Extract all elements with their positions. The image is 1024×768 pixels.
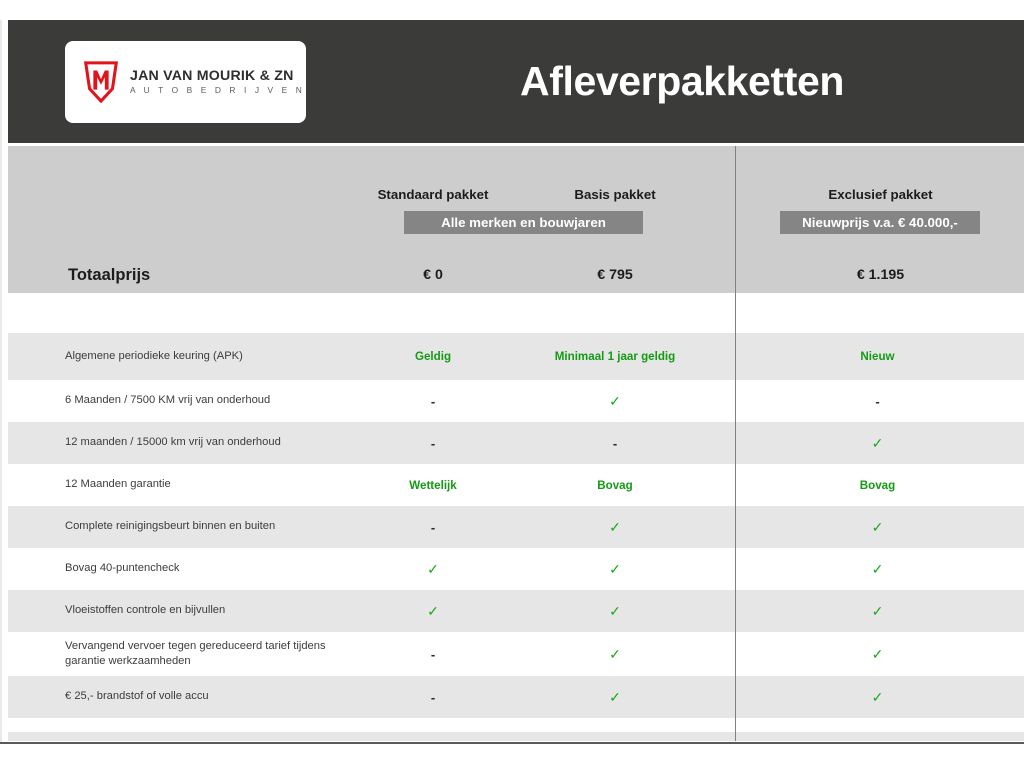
table-row: 12 Maanden garantieWettelijkBovagBovag	[8, 464, 1024, 506]
check-icon: ✓	[427, 561, 439, 578]
check-icon: ✓	[609, 603, 621, 620]
check-icon: ✓	[872, 519, 884, 536]
dash-icon: -	[431, 690, 435, 705]
cell-basis: Bovag	[527, 464, 703, 506]
cell-standaard: -	[345, 380, 521, 422]
feature-label: 6 Maanden / 7500 KM vrij van onderhoud	[65, 380, 355, 422]
cell-basis: -	[527, 422, 703, 464]
cell-exclusief: ✓	[735, 676, 1020, 718]
cell-text: Minimaal 1 jaar geldig	[555, 350, 675, 363]
cell-basis: ✓	[527, 676, 703, 718]
cell-basis: Minimaal 1 jaar geldig	[527, 333, 703, 380]
cell-standaard: Wettelijk	[345, 464, 521, 506]
column-header-exclusief: Exclusief pakket	[738, 187, 1023, 202]
cell-text: Bovag	[860, 479, 895, 492]
cell-standaard: ✓	[345, 590, 521, 632]
table-row: Vervangend vervoer tegen gereduceerd tar…	[8, 632, 1024, 676]
column-header-basis: Basis pakket	[527, 187, 703, 202]
check-icon: ✓	[872, 646, 884, 663]
cell-exclusief: -	[735, 380, 1020, 422]
cell-standaard: -	[345, 676, 521, 718]
dash-icon: -	[613, 436, 617, 451]
total-price-label: Totaalprijs	[68, 258, 150, 293]
cell-standaard: -	[345, 506, 521, 548]
cell-text: Wettelijk	[409, 479, 456, 492]
comparison-sheet: JAN VAN MOURIK & ZN A U T O B E D R I J …	[0, 20, 1024, 743]
feature-label: Vervangend vervoer tegen gereduceerd tar…	[65, 632, 355, 676]
table-body: Algemene periodieke keuring (APK)GeldigM…	[8, 293, 1024, 765]
cell-basis: ✓	[527, 632, 703, 676]
bottom-rule	[0, 742, 1024, 744]
cell-exclusief: ✓	[735, 422, 1020, 464]
shield-m-icon	[82, 61, 120, 103]
check-icon: ✓	[872, 689, 884, 706]
spacer-row-top	[8, 293, 1024, 333]
total-price-row: Totaalprijs € 0 € 795 € 1.195	[8, 258, 1024, 293]
feature-label: 12 Maanden garantie	[65, 464, 355, 506]
company-logo: JAN VAN MOURIK & ZN A U T O B E D R I J …	[65, 41, 306, 123]
feature-label: Bovag 40-puntencheck	[65, 548, 355, 590]
feature-label: Vloeistoffen controle en bijvullen	[65, 590, 355, 632]
cell-basis: ✓	[527, 380, 703, 422]
cell-basis: ✓	[527, 548, 703, 590]
cell-exclusief: ✓	[735, 548, 1020, 590]
cell-exclusief: ✓	[735, 590, 1020, 632]
feature-label: 12 maanden / 15000 km vrij van onderhoud	[65, 422, 355, 464]
badge-alle-merken: Alle merken en bouwjaren	[404, 211, 643, 234]
header-band: JAN VAN MOURIK & ZN A U T O B E D R I J …	[8, 20, 1024, 143]
table-row: € 25,- brandstof of volle accu-✓✓	[8, 676, 1024, 718]
cell-exclusief: Bovag	[735, 464, 1020, 506]
check-icon: ✓	[609, 393, 621, 410]
dash-icon: -	[875, 394, 879, 409]
cell-text: Nieuw	[860, 350, 894, 363]
footer-strip	[8, 732, 1024, 741]
table-row: 6 Maanden / 7500 KM vrij van onderhoud-✓…	[8, 380, 1024, 422]
dash-icon: -	[431, 436, 435, 451]
page-title: Afleverpakketten	[338, 20, 1024, 143]
total-price-exclusief: € 1.195	[738, 258, 1023, 293]
cell-standaard: -	[345, 422, 521, 464]
table-row: Bovag 40-puntencheck✓✓✓	[8, 548, 1024, 590]
cell-exclusief: ✓	[735, 506, 1020, 548]
cell-standaard: ✓	[345, 548, 521, 590]
badge-nieuwprijs: Nieuwprijs v.a. € 40.000,-	[780, 211, 980, 234]
cell-basis: ✓	[527, 590, 703, 632]
table-row: 12 maanden / 15000 km vrij van onderhoud…	[8, 422, 1024, 464]
table-header: Standaard pakket Basis pakket Exclusief …	[8, 146, 1024, 293]
column-header-standaard: Standaard pakket	[345, 187, 521, 202]
check-icon: ✓	[872, 435, 884, 452]
dash-icon: -	[431, 647, 435, 662]
dash-icon: -	[431, 394, 435, 409]
feature-label: Algemene periodieke keuring (APK)	[65, 333, 355, 380]
total-price-basis: € 795	[527, 258, 703, 293]
check-icon: ✓	[609, 561, 621, 578]
logo-company-name: JAN VAN MOURIK & ZN	[130, 68, 305, 84]
check-icon: ✓	[872, 603, 884, 620]
table-row: Vloeistoffen controle en bijvullen✓✓✓	[8, 590, 1024, 632]
check-icon: ✓	[609, 519, 621, 536]
check-icon: ✓	[427, 603, 439, 620]
cell-text: Bovag	[597, 479, 632, 492]
column-divider	[735, 146, 736, 741]
cell-exclusief: Nieuw	[735, 333, 1020, 380]
check-icon: ✓	[609, 646, 621, 663]
dash-icon: -	[431, 520, 435, 535]
cell-basis: ✓	[527, 506, 703, 548]
cell-standaard: Geldig	[345, 333, 521, 380]
cell-standaard: -	[345, 632, 521, 676]
poster-page: JAN VAN MOURIK & ZN A U T O B E D R I J …	[0, 0, 1024, 768]
logo-wordmark: JAN VAN MOURIK & ZN A U T O B E D R I J …	[130, 68, 305, 96]
table-row: Complete reinigingsbeurt binnen en buite…	[8, 506, 1024, 548]
cell-exclusief: ✓	[735, 632, 1020, 676]
feature-label: Complete reinigingsbeurt binnen en buite…	[65, 506, 355, 548]
table-row: Algemene periodieke keuring (APK)GeldigM…	[8, 333, 1024, 380]
total-price-standaard: € 0	[345, 258, 521, 293]
logo-company-subtitle: A U T O B E D R I J V E N	[130, 85, 305, 96]
check-icon: ✓	[609, 689, 621, 706]
check-icon: ✓	[872, 561, 884, 578]
feature-label: € 25,- brandstof of volle accu	[65, 676, 355, 718]
cell-text: Geldig	[415, 350, 451, 363]
